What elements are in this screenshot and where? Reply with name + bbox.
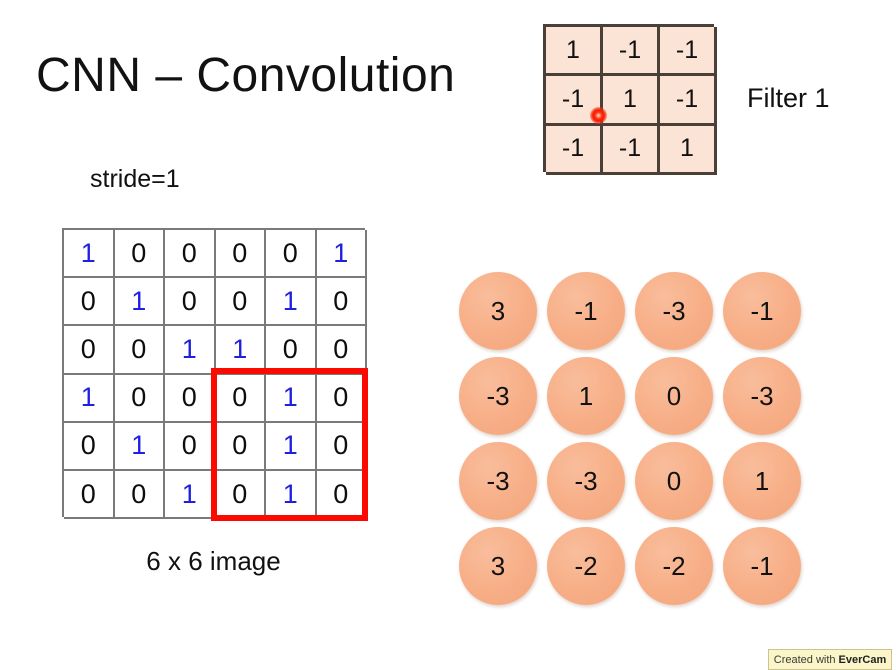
input-cell-r5-c5: 1 bbox=[266, 423, 317, 471]
input-cell-r4-c4: 0 bbox=[216, 375, 267, 423]
input-cell-r1-c5: 0 bbox=[266, 230, 317, 278]
feature-map-slot-r4-c3: -2 bbox=[630, 523, 718, 608]
input-cell-r2-c1: 0 bbox=[64, 278, 115, 326]
feature-map-slot-r1-c4: -1 bbox=[718, 268, 806, 353]
input-cell-r6-c2: 0 bbox=[115, 471, 166, 519]
feature-map-slot-r3-c2: -3 bbox=[542, 438, 630, 523]
feature-map-slot-r1-c3: -3 bbox=[630, 268, 718, 353]
feature-map-slot-r3-c4: 1 bbox=[718, 438, 806, 523]
input-cell-r6-c4: 0 bbox=[216, 471, 267, 519]
input-cell-r3-c1: 0 bbox=[64, 326, 115, 374]
feature-map-slot-r3-c1: -3 bbox=[454, 438, 542, 523]
input-cell-r5-c4: 0 bbox=[216, 423, 267, 471]
input-cell-r5-c1: 0 bbox=[64, 423, 115, 471]
feature-map-slot-r4-c4: -1 bbox=[718, 523, 806, 608]
feature-map-circle-r2-c4: -3 bbox=[723, 357, 801, 435]
input-cell-r5-c2: 1 bbox=[115, 423, 166, 471]
input-cell-r5-c6: 0 bbox=[317, 423, 368, 471]
feature-map-circle-r1-c2: -1 bbox=[547, 272, 625, 350]
input-cell-r4-c2: 0 bbox=[115, 375, 166, 423]
filter-cell-r3-c2: -1 bbox=[603, 126, 660, 175]
filter-cell-r1-c3: -1 bbox=[660, 27, 717, 76]
input-image-matrix: 100001010010001100100010010010001010 bbox=[62, 228, 365, 517]
feature-map-slot-r2-c1: -3 bbox=[454, 353, 542, 438]
feature-map-circle-r2-c3: 0 bbox=[635, 357, 713, 435]
input-cell-r6-c6: 0 bbox=[317, 471, 368, 519]
feature-map-circle-r3-c3: 0 bbox=[635, 442, 713, 520]
feature-map-grid: 3-1-3-1-310-3-3-3013-2-2-1 bbox=[454, 268, 806, 608]
feature-map-slot-r2-c3: 0 bbox=[630, 353, 718, 438]
page-title: CNN – Convolution bbox=[36, 48, 455, 103]
filter-cell-r3-c3: 1 bbox=[660, 126, 717, 175]
feature-map-circle-r2-c1: -3 bbox=[459, 357, 537, 435]
input-cell-r1-c3: 0 bbox=[165, 230, 216, 278]
feature-map-circle-r4-c4: -1 bbox=[723, 527, 801, 605]
feature-map-slot-r4-c1: 3 bbox=[454, 523, 542, 608]
filter-cell-r3-c1: -1 bbox=[546, 126, 603, 175]
filter-matrix: 1-1-1-11-1-1-11 bbox=[543, 24, 714, 172]
evercam-watermark: Created with EverCam bbox=[768, 649, 892, 670]
input-cell-r2-c5: 1 bbox=[266, 278, 317, 326]
filter-cell-r2-c2: 1 bbox=[603, 76, 660, 125]
input-cell-r1-c2: 0 bbox=[115, 230, 166, 278]
input-cell-r6-c1: 0 bbox=[64, 471, 115, 519]
feature-map-slot-r3-c3: 0 bbox=[630, 438, 718, 523]
input-cell-r5-c3: 0 bbox=[165, 423, 216, 471]
feature-map-circle-r4-c1: 3 bbox=[459, 527, 537, 605]
filter-cell-r1-c2: -1 bbox=[603, 27, 660, 76]
filter-label: Filter 1 bbox=[747, 83, 830, 114]
input-cell-r1-c1: 1 bbox=[64, 230, 115, 278]
filter-cell-r2-c1: -1 bbox=[546, 76, 603, 125]
stride-label: stride=1 bbox=[90, 165, 180, 194]
input-cell-r2-c6: 0 bbox=[317, 278, 368, 326]
input-cell-r2-c3: 0 bbox=[165, 278, 216, 326]
feature-map-circle-r4-c2: -2 bbox=[547, 527, 625, 605]
input-cell-r4-c6: 0 bbox=[317, 375, 368, 423]
filter-cell-r1-c1: 1 bbox=[546, 27, 603, 76]
input-cell-r6-c5: 1 bbox=[266, 471, 317, 519]
input-cell-r2-c2: 1 bbox=[115, 278, 166, 326]
input-cell-r2-c4: 0 bbox=[216, 278, 267, 326]
feature-map-circle-r3-c2: -3 bbox=[547, 442, 625, 520]
input-cell-r6-c3: 1 bbox=[165, 471, 216, 519]
feature-map-circle-r1-c1: 3 bbox=[459, 272, 537, 350]
feature-map-circle-r2-c2: 1 bbox=[547, 357, 625, 435]
feature-map-slot-r2-c2: 1 bbox=[542, 353, 630, 438]
watermark-prefix: Created with bbox=[774, 654, 836, 666]
input-cell-r3-c3: 1 bbox=[165, 326, 216, 374]
feature-map-circle-r3-c1: -3 bbox=[459, 442, 537, 520]
input-cell-r3-c5: 0 bbox=[266, 326, 317, 374]
feature-map-slot-r2-c4: -3 bbox=[718, 353, 806, 438]
feature-map-slot-r1-c2: -1 bbox=[542, 268, 630, 353]
feature-map-slot-r1-c1: 3 bbox=[454, 268, 542, 353]
feature-map-circle-r1-c3: -3 bbox=[635, 272, 713, 350]
input-cell-r4-c1: 1 bbox=[64, 375, 115, 423]
feature-map-circle-r3-c4: 1 bbox=[723, 442, 801, 520]
watermark-brand: EverCam bbox=[839, 654, 887, 666]
feature-map-slot-r4-c2: -2 bbox=[542, 523, 630, 608]
input-image-caption: 6 x 6 image bbox=[62, 546, 365, 577]
input-cell-r4-c5: 1 bbox=[266, 375, 317, 423]
input-cell-r1-c4: 0 bbox=[216, 230, 267, 278]
input-cell-r3-c6: 0 bbox=[317, 326, 368, 374]
input-cell-r1-c6: 1 bbox=[317, 230, 368, 278]
filter-cell-r2-c3: -1 bbox=[660, 76, 717, 125]
feature-map-circle-r4-c3: -2 bbox=[635, 527, 713, 605]
feature-map-circle-r1-c4: -1 bbox=[723, 272, 801, 350]
input-cell-r4-c3: 0 bbox=[165, 375, 216, 423]
input-cell-r3-c4: 1 bbox=[216, 326, 267, 374]
input-cell-r3-c2: 0 bbox=[115, 326, 166, 374]
